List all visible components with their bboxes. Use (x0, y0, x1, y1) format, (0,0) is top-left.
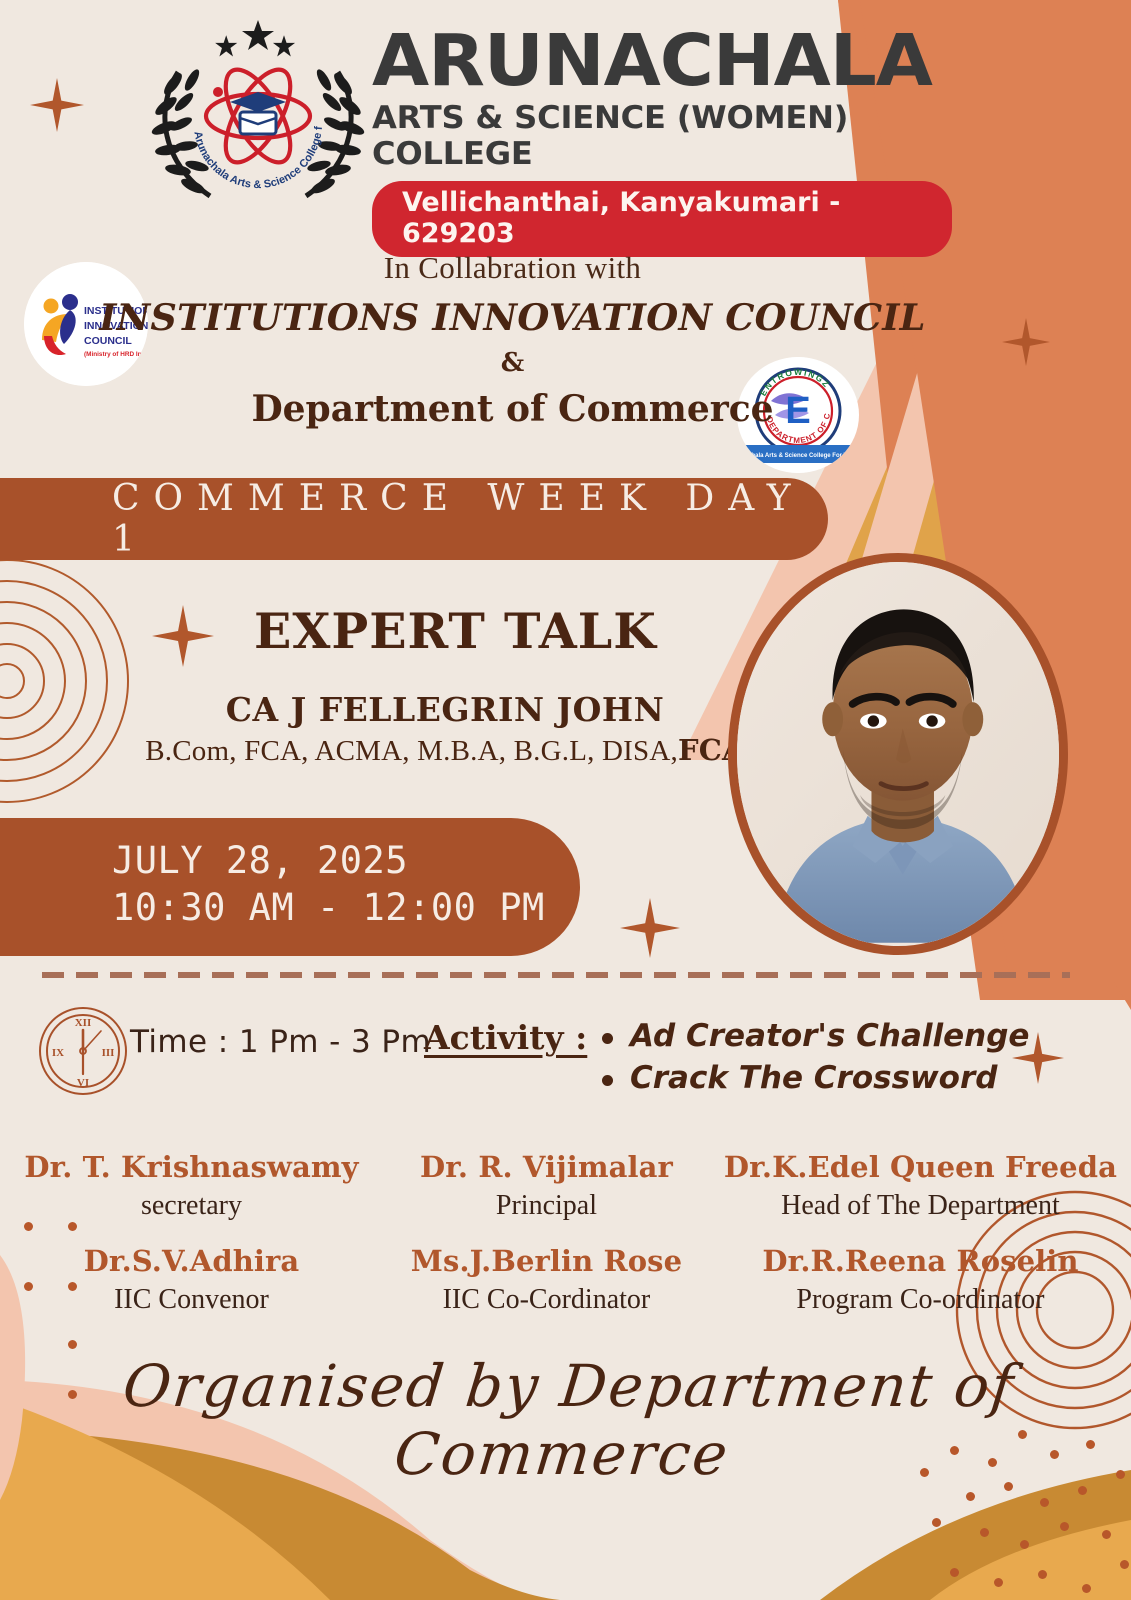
dignitary-role: Principal (369, 1190, 724, 1222)
dignitary-name: Dr.R.Reena Roselin (724, 1244, 1117, 1278)
time-label: Time : 1 Pm - 3 Pm (130, 1024, 431, 1060)
organised-by-text: Organised by Department of Commerce (0, 1352, 1131, 1488)
dignitary-cell: Dr.R.Reena Roselin Program Co-ordinator (724, 1244, 1117, 1316)
clock-numeral-nine: IX (52, 1047, 64, 1059)
college-address: Vellichanthai, Kanyakumari - 629203 (402, 187, 840, 249)
dignitary-cell: Dr.K.Edel Queen Freeda Head of The Depar… (724, 1150, 1117, 1222)
collaboration-department: Department of Commerce (0, 388, 1025, 430)
event-time: 10:30 AM - 12:00 PM (112, 885, 580, 932)
dignitary-name: Dr.K.Edel Queen Freeda (724, 1150, 1117, 1184)
left-concentric-rings (0, 556, 132, 806)
dignitary-role: IIC Co-Cordinator (369, 1284, 724, 1316)
dignitary-role: Program Co-ordinator (724, 1284, 1117, 1316)
college-address-pill: Vellichanthai, Kanyakumari - 629203 (372, 181, 952, 257)
collaboration-ampersand: & (0, 348, 1025, 378)
college-title-block: ARUNACHALA ARTS & SCIENCE (WOMEN) COLLEG… (372, 26, 952, 257)
commerce-week-banner: COMMERCE WEEK DAY 1 (0, 478, 828, 560)
dignitary-role: Head of The Department (724, 1190, 1117, 1222)
poster-header: Arunachala Arts & Science College for Wo… (0, 0, 1131, 225)
clock-numeral-six: VI (77, 1077, 89, 1089)
event-date: JULY 28, 2025 (112, 838, 580, 885)
dignitary-cell: Dr. T. Krishnaswamy secretary (14, 1150, 369, 1222)
sparkle-icon-expert-talk (152, 605, 214, 667)
commerce-week-label: COMMERCE WEEK DAY 1 (112, 478, 828, 560)
dignitary-name: Dr.S.V.Adhira (14, 1244, 369, 1278)
speaker-portrait (728, 553, 1068, 955)
dignitary-cell: Dr.S.V.Adhira IIC Convenor (14, 1244, 369, 1316)
clock-numeral-twelve: XII (75, 1017, 92, 1029)
college-subtitle: ARTS & SCIENCE (WOMEN) COLLEGE (372, 100, 964, 172)
event-title: EXPERT TALK (254, 602, 657, 660)
dignitary-name: Dr. T. Krishnaswamy (14, 1150, 369, 1184)
clock-icon: XII III VI IX (38, 1006, 128, 1096)
dignitary-cell: Dr. R. Vijimalar Principal (369, 1150, 724, 1222)
list-item: Crack The Crossword (594, 1057, 1029, 1099)
event-poster: Arunachala Arts & Science College for Wo… (0, 0, 1131, 1600)
sparkle-icon-mid (620, 898, 680, 958)
speaker-credentials-text: B.Com, FCA, ACMA, M.B.A, B.G.L, DISA, (145, 735, 678, 767)
college-crest-logo: Arunachala Arts & Science College for Wo… (148, 14, 368, 214)
dignitary-name: Dr. R. Vijimalar (369, 1150, 724, 1184)
section-divider-overlay (42, 972, 1070, 978)
collaboration-partner: INSTITUTIONS INNOVATION COUNCIL (0, 297, 1035, 339)
dignitary-role: IIC Convenor (14, 1284, 369, 1316)
dignitary-name: Ms.J.Berlin Rose (369, 1244, 724, 1278)
dignitaries-grid: Dr. T. Krishnaswamy secretary Dr. R. Vij… (0, 1150, 1131, 1316)
dignitary-role: secretary (14, 1190, 369, 1222)
collaboration-intro: In Collabration with (0, 250, 1025, 286)
activity-label: Activity : (424, 1018, 587, 1057)
date-time-banner: JULY 28, 2025 10:30 AM - 12:00 PM (0, 818, 580, 956)
college-name: ARUNACHALA (372, 26, 975, 96)
clock-numeral-three: III (102, 1047, 115, 1059)
entrowingz-ribbon-text: Arunachala Arts & Science College For Wo… (737, 453, 859, 459)
dignitary-cell: Ms.J.Berlin Rose IIC Co-Cordinator (369, 1244, 724, 1316)
collaboration-block: In Collabration with INSTITUTIONS INNOVA… (0, 250, 1025, 430)
activity-list: Ad Creator's Challenge Crack The Crosswo… (594, 1015, 1029, 1099)
list-item: Ad Creator's Challenge (594, 1015, 1029, 1057)
